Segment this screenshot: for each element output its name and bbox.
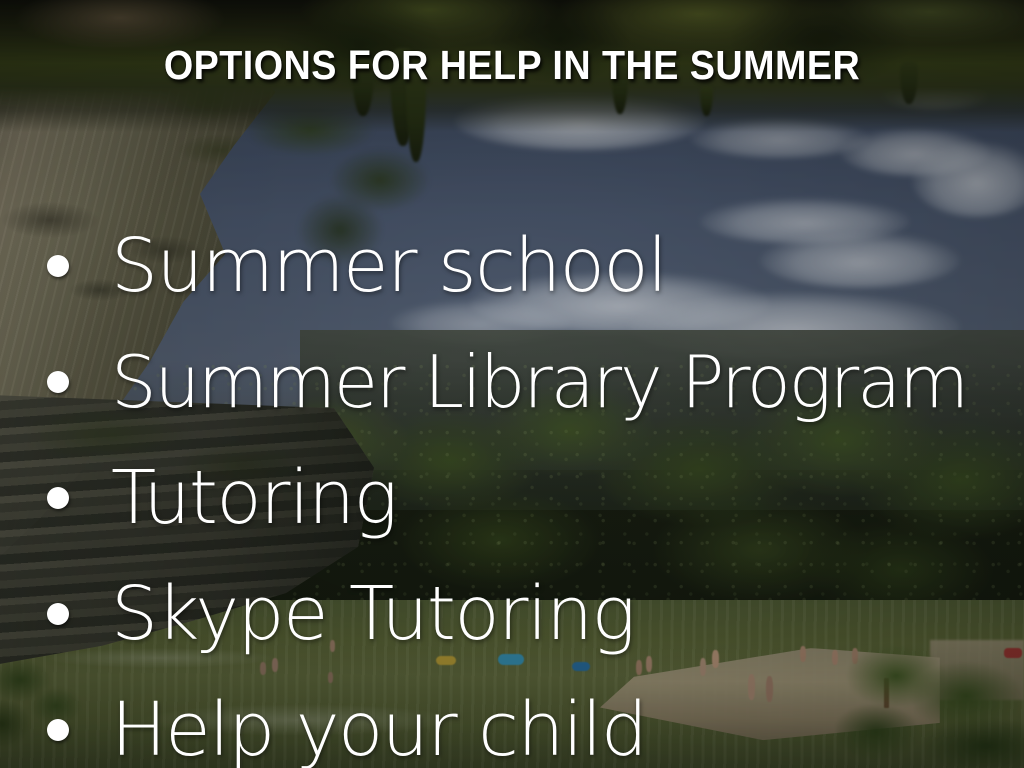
slide-canvas: OPTIONS FOR HELP IN THE SUMMER Summer sc… — [0, 0, 1024, 768]
bullet-dot-icon — [47, 719, 69, 741]
list-item: Tutoring — [38, 440, 1024, 556]
bullet-list: Summer school Summer Library Program Tut… — [38, 208, 1024, 768]
bullet-dot-icon — [47, 371, 69, 393]
bullet-label: Skype Tutoring — [111, 577, 634, 651]
list-item: Skype Tutoring — [38, 556, 1024, 672]
bullet-dot-icon — [47, 603, 69, 625]
bullet-label: Summer school — [111, 229, 666, 303]
bullet-dot-icon — [47, 487, 69, 509]
bullet-label: Summer Library Program — [111, 346, 967, 418]
slide-title: OPTIONS FOR HELP IN THE SUMMER — [41, 44, 983, 87]
list-item: Summer Library Program — [38, 324, 1024, 440]
list-item: Summer school — [38, 208, 1024, 324]
bullet-label: Help your child — [111, 693, 646, 767]
slide-content: OPTIONS FOR HELP IN THE SUMMER Summer sc… — [0, 0, 1024, 768]
bullet-dot-icon — [47, 255, 69, 277]
bullet-label: Tutoring — [111, 461, 396, 535]
list-item: Help your child — [38, 672, 1024, 768]
